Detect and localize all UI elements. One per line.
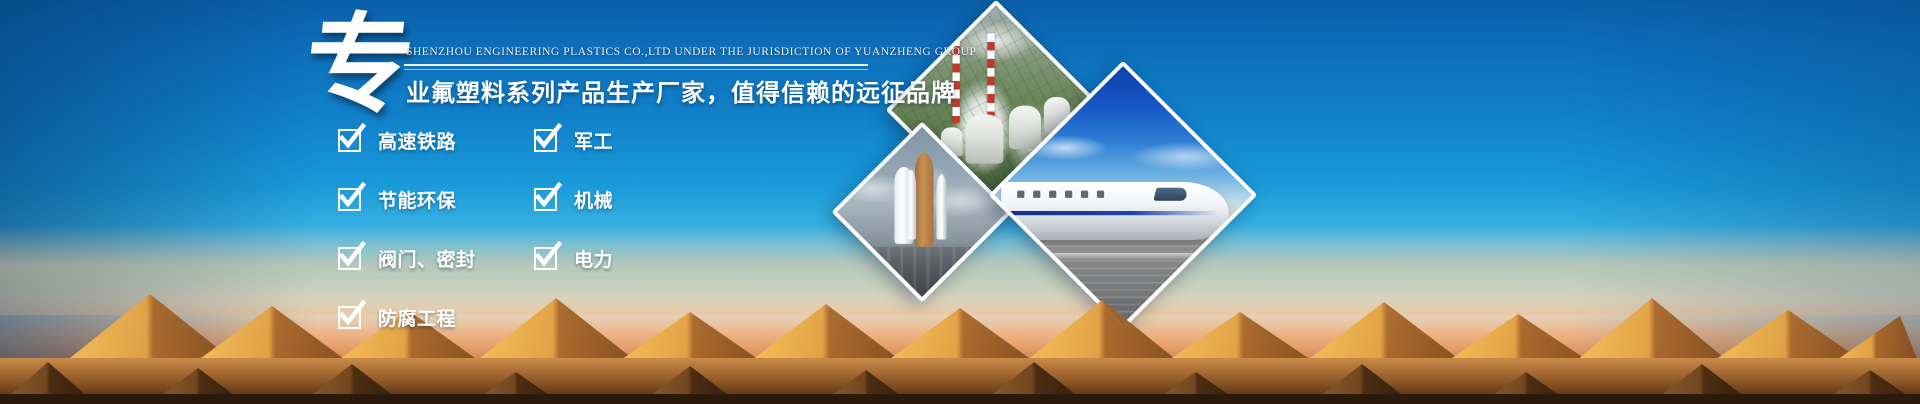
feature-item[interactable]: 机械 bbox=[534, 181, 613, 217]
feature-label: 高速铁路 bbox=[378, 127, 456, 154]
promo-banner: 专 SHENZHOU ENGINEERING PLASTICS CO.,LTD … bbox=[0, 0, 1920, 404]
feature-item[interactable]: 防腐工程 bbox=[338, 299, 476, 335]
feature-item[interactable]: 军工 bbox=[534, 122, 613, 158]
feature-item[interactable]: 阀门、密封 bbox=[338, 240, 476, 276]
checkbox-checked-icon bbox=[534, 127, 561, 154]
feature-label: 节能环保 bbox=[378, 186, 456, 213]
chinese-tagline: 业氟塑料系列产品生产厂家，值得信赖的远征品牌 bbox=[406, 73, 956, 108]
feature-column-right: 军工 机械 电力 bbox=[534, 122, 613, 299]
feature-column-left: 高速铁路 节能环保 阀门、密封 bbox=[338, 122, 476, 358]
feature-label: 机械 bbox=[574, 186, 613, 213]
feature-item[interactable]: 节能环保 bbox=[338, 181, 476, 217]
checkbox-checked-icon bbox=[534, 186, 561, 213]
feature-item[interactable]: 高速铁路 bbox=[338, 122, 476, 158]
feature-label: 电力 bbox=[574, 245, 613, 272]
feature-label: 军工 bbox=[574, 127, 613, 154]
feature-label: 防腐工程 bbox=[378, 304, 456, 331]
checkbox-checked-icon bbox=[534, 245, 561, 272]
checkbox-checked-icon bbox=[338, 304, 365, 331]
checkbox-checked-icon bbox=[338, 245, 365, 272]
headline-divider bbox=[404, 64, 868, 70]
checkbox-checked-icon bbox=[338, 186, 365, 213]
feature-item[interactable]: 电力 bbox=[534, 240, 613, 276]
company-english-name: SHENZHOU ENGINEERING PLASTICS CO.,LTD UN… bbox=[406, 46, 976, 58]
checkbox-checked-icon bbox=[338, 127, 365, 154]
feature-label: 阀门、密封 bbox=[378, 245, 476, 272]
pyramid-skyline bbox=[0, 254, 1920, 404]
